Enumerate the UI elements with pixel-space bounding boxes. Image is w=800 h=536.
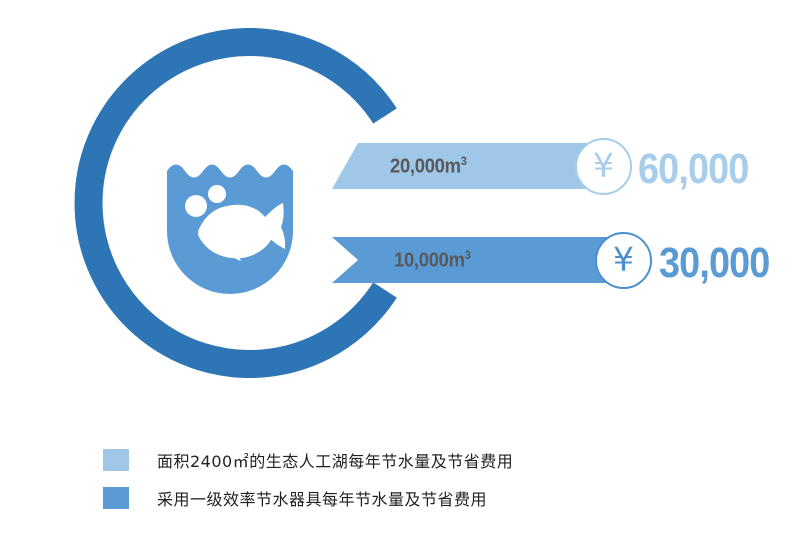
volume-label-1: 20,000m3 — [390, 154, 467, 179]
legend-item-lake: 面积2400㎡的生态人工湖每年节水量及节省费用 — [103, 448, 513, 472]
bubble-small-icon — [185, 195, 207, 217]
legend: 面积2400㎡的生态人工湖每年节水量及节省费用 采用一级效率节水器具每年节水量及… — [103, 448, 513, 524]
amount-label-1: 60,000 — [638, 148, 748, 191]
yen-coin-2: ¥ — [595, 232, 652, 289]
bar-light: 20,000m3 — [332, 143, 605, 189]
infographic-canvas: 20,000m3 ¥ 60,000 10,000m3 ¥ 30,000 面积24… — [0, 0, 800, 536]
yen-symbol-icon: ¥ — [613, 243, 634, 276]
yen-coin-1: ¥ — [575, 138, 632, 195]
legend-label-lake: 面积2400㎡的生态人工湖每年节水量及节省费用 — [157, 448, 513, 472]
data-row-lake: 20,000m3 ¥ 60,000 — [332, 143, 605, 189]
legend-swatch-dark — [103, 487, 129, 509]
yen-symbol-icon: ¥ — [593, 149, 614, 182]
fish-lake-icon — [155, 145, 305, 295]
volume-label-2: 10,000m3 — [394, 248, 471, 273]
legend-item-appliance: 采用一级效率节水器具每年节水量及节省费用 — [103, 486, 513, 510]
amount-label-2: 30,000 — [659, 242, 769, 285]
legend-label-appliance: 采用一级效率节水器具每年节水量及节省费用 — [157, 486, 487, 510]
bar-dark: 10,000m3 — [332, 237, 625, 283]
bubble-large-icon — [208, 185, 226, 203]
data-row-appliance: 10,000m3 ¥ 30,000 — [332, 237, 625, 283]
legend-swatch-light — [103, 449, 129, 471]
